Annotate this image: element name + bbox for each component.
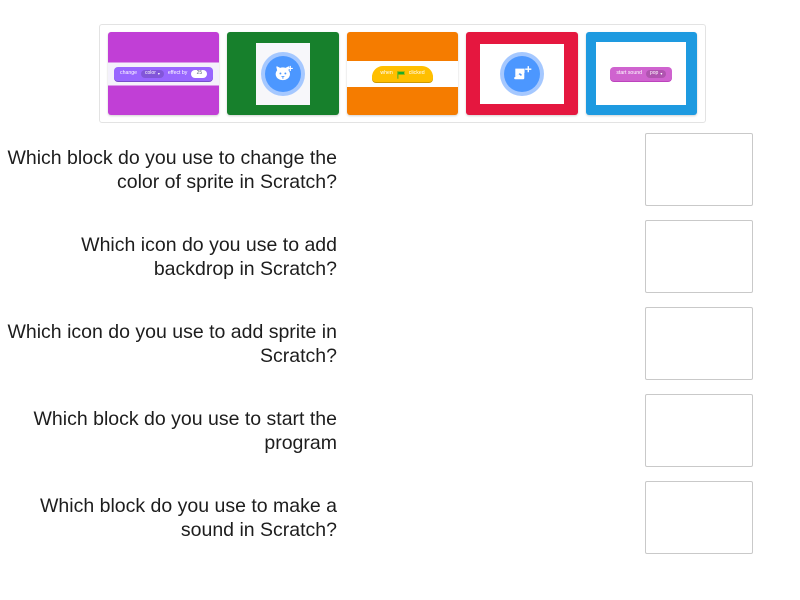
answer-card-change-color-effect[interactable]: change color ▾ effect by 25	[108, 32, 219, 115]
add-sprite-cat-icon	[265, 56, 301, 92]
add-backdrop-image-icon	[504, 56, 540, 92]
question-list: Which block do you use to change the col…	[0, 132, 800, 567]
answer-dropzone[interactable]	[645, 133, 753, 206]
block-dropdown-color[interactable]: color ▾	[141, 70, 164, 78]
block-text-start-sound: start sound	[616, 71, 642, 76]
scratch-block-looks: change color ▾ effect by 25	[114, 67, 213, 81]
question-row: Which icon do you use to add backdrop in…	[0, 219, 800, 294]
block-text-when: when	[380, 71, 392, 76]
scratch-block-events: when clicked	[372, 66, 432, 82]
question-row: Which icon do you use to add sprite in S…	[0, 306, 800, 381]
block-text-clicked: clicked	[409, 71, 425, 76]
answer-tray[interactable]: change color ▾ effect by 25	[99, 24, 706, 123]
icon-panel	[256, 43, 310, 105]
icon-halo	[500, 52, 544, 96]
question-row: Which block do you use to change the col…	[0, 132, 800, 207]
answer-card-add-backdrop-icon[interactable]	[466, 32, 577, 115]
question-text: Which icon do you use to add backdrop in…	[0, 233, 337, 281]
answer-dropzone[interactable]	[645, 220, 753, 293]
dropdown-value: color	[145, 71, 156, 76]
answer-card-start-sound-pop[interactable]: start sound pop ▾	[586, 32, 697, 115]
block-text-effect-by: effect by	[168, 71, 188, 76]
chevron-down-icon: ▾	[660, 72, 662, 76]
icon-panel: start sound pop ▾	[596, 42, 686, 105]
block-number-input[interactable]: 25	[191, 70, 207, 78]
scratch-block-sound: start sound pop ▾	[610, 67, 672, 81]
answer-dropzone[interactable]	[645, 394, 753, 467]
question-text: Which block do you use to change the col…	[0, 146, 337, 194]
question-text: Which block do you use to make a sound i…	[0, 494, 337, 542]
chevron-down-icon: ▾	[158, 72, 160, 76]
block-text-change: change	[120, 71, 137, 76]
question-row: Which block do you use to make a sound i…	[0, 480, 800, 555]
answer-dropzone[interactable]	[645, 481, 753, 554]
question-text: Which block do you use to start the prog…	[0, 407, 337, 455]
icon-halo	[261, 52, 305, 96]
dropdown-value: pop	[650, 71, 658, 76]
green-flag-icon	[397, 71, 405, 78]
question-text: Which icon do you use to add sprite in S…	[0, 320, 337, 368]
answer-dropzone[interactable]	[645, 307, 753, 380]
question-row: Which block do you use to start the prog…	[0, 393, 800, 468]
answer-card-when-flag-clicked[interactable]: when clicked	[347, 32, 458, 115]
answer-card-add-sprite-icon[interactable]	[227, 32, 338, 115]
block-dropdown-sound[interactable]: pop ▾	[646, 70, 666, 78]
icon-panel	[480, 44, 564, 104]
